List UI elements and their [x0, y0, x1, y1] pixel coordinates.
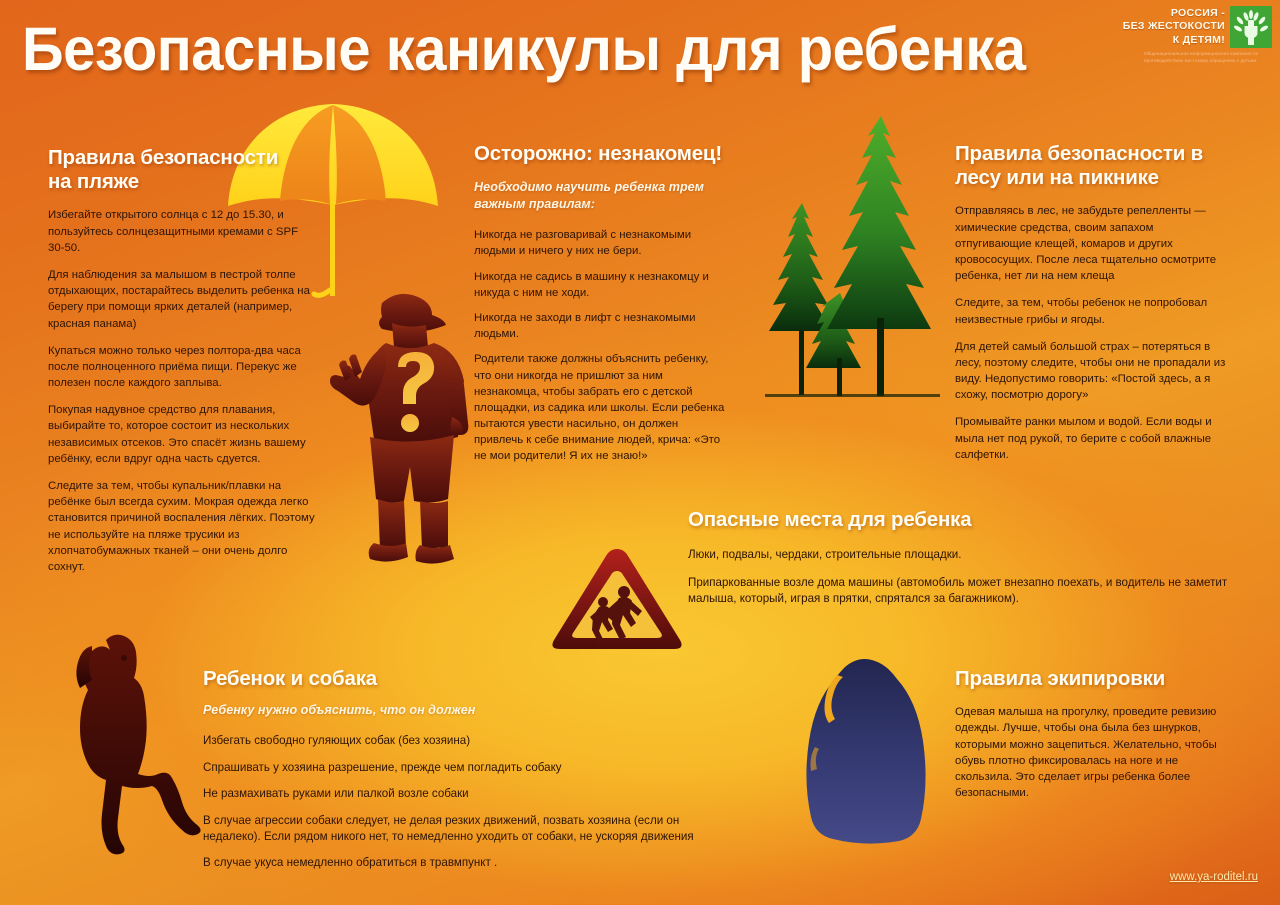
forest-paragraph: Отправляясь в лес, не забудьте репеллент…: [955, 203, 1230, 284]
dog-rule: Не размахивать руками или палкой возле с…: [203, 786, 733, 802]
children-crossing-sign: [545, 545, 690, 655]
stranger-rule: Никогда не садись в машину к незнакомцу …: [474, 269, 726, 301]
beach-paragraph: Купаться можно только через полтора-два …: [48, 343, 316, 392]
section-title-gear: Правила экипировки: [955, 667, 1225, 691]
section-subtitle-dog: Ребенку нужно объяснить, что он должен: [203, 702, 733, 719]
beach-paragraph: Для наблюдения за малышом в пестрой толп…: [48, 267, 316, 332]
website-link[interactable]: www.ya-roditel.ru: [1170, 871, 1258, 883]
logo-line-3: К ДЕТЯМ!: [1123, 34, 1225, 47]
section-beach-safety: Правила безопасности на пляже Избегайте …: [48, 146, 316, 575]
forest-paragraph: Следите, за тем, чтобы ребенок не попроб…: [955, 295, 1230, 327]
beach-paragraph: Избегайте открытого солнца с 12 до 15.30…: [48, 207, 316, 256]
beach-paragraph: Покупая надувное средство для плавания, …: [48, 402, 316, 467]
dog-rule: В случае агрессии собаки следует, не дел…: [203, 813, 733, 846]
danger-paragraph: Люки, подвалы, чердаки, строительные пло…: [688, 547, 1258, 563]
logo-line-2: БЕЗ ЖЕСТОКОСТИ: [1123, 20, 1225, 33]
logo-subtext: Общенациональная информационная кампания…: [1144, 51, 1272, 65]
gear-paragraph: Одевая малыша на прогулку, проведите рев…: [955, 704, 1225, 801]
section-title-dog: Ребенок и собака: [203, 667, 733, 691]
section-stranger-danger: Осторожно: незнакомец! Необходимо научит…: [474, 142, 726, 474]
logo-line-1: РОССИЯ -: [1123, 7, 1225, 20]
section-title-forest: Правила безопасности в лесу или на пикни…: [955, 142, 1230, 190]
logo-hand: [1245, 26, 1258, 38]
section-title-stranger: Осторожно: незнакомец!: [474, 142, 726, 166]
section-child-and-dog: Ребенок и собака Ребенку нужно объяснить…: [203, 667, 733, 882]
section-equipment-rules: Правила экипировки Одевая малыша на прог…: [955, 667, 1225, 801]
page-title: Безопасные каникулы для ребенка: [22, 18, 1026, 80]
tree-hand-icon: [1230, 6, 1272, 48]
forest-paragraph: Для детей самый большой страх – потерять…: [955, 339, 1230, 404]
section-dangerous-places: Опасные места для ребенка Люки, подвалы,…: [688, 508, 1258, 608]
stranger-paragraph: Родители также должны объяснить ребенку,…: [474, 351, 726, 464]
stranger-man-silhouette: [312, 275, 492, 570]
fir-trees-illustration: [755, 108, 955, 408]
stranger-rule: Никогда не разговаривай с незнакомыми лю…: [474, 227, 726, 259]
logo-leaf: [1236, 16, 1245, 25]
dog-rule: В случае укуса немедленно обратиться в т…: [203, 855, 733, 871]
section-forest-safety: Правила безопасности в лесу или на пикни…: [955, 142, 1230, 463]
backpack-silhouette: [795, 655, 945, 870]
logo-row: РОССИЯ - БЕЗ ЖЕСТОКОСТИ К ДЕТЯМ!: [1123, 6, 1272, 48]
stranger-rule: Никогда не заходи в лифт с незнакомыми л…: [474, 310, 726, 342]
campaign-logo[interactable]: РОССИЯ - БЕЗ ЖЕСТОКОСТИ К ДЕТЯМ! Общенац…: [1104, 6, 1272, 65]
logo-leaf: [1259, 25, 1269, 33]
forest-paragraph: Промывайте ранки мылом и водой. Если вод…: [955, 414, 1230, 463]
beach-paragraph: Следите за тем, чтобы купальник/плавки н…: [48, 478, 316, 575]
section-title-danger: Опасные места для ребенка: [688, 508, 1258, 532]
logo-leaf: [1258, 16, 1267, 25]
section-title-beach: Правила безопасности на пляже: [48, 146, 298, 194]
poster-canvas: Безопасные каникулы для ребенка РОССИЯ -…: [0, 0, 1280, 905]
section-subtitle-stranger: Необходимо научить ребенка трем важным п…: [474, 179, 726, 213]
logo-wordmark: РОССИЯ - БЕЗ ЖЕСТОКОСТИ К ДЕТЯМ!: [1123, 7, 1225, 47]
dog-rule: Спрашивать у хозяина разрешение, прежде …: [203, 760, 733, 776]
danger-paragraph: Припаркованные возле дома машины (автомо…: [688, 575, 1258, 608]
dog-rule: Избегать свободно гуляющих собак (без хо…: [203, 733, 733, 749]
logo-leaf: [1233, 25, 1243, 33]
